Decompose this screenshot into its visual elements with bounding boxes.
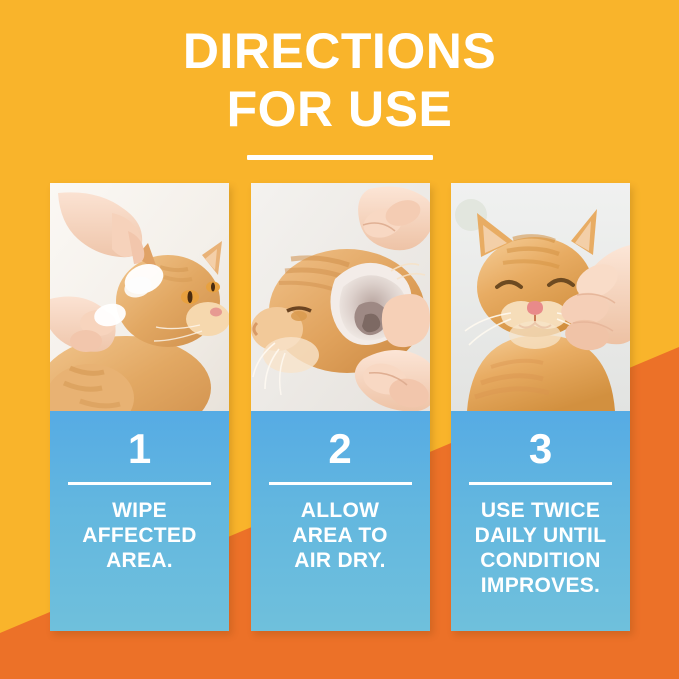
cat-ear-open-illustration: [251, 183, 430, 411]
step-text-3: USE TWICE DAILY UNTIL CONDITION IMPROVES…: [461, 498, 620, 598]
step-card-3: 3 USE TWICE DAILY UNTIL CONDITION IMPROV…: [451, 183, 630, 631]
content-cat-illustration: [451, 183, 630, 411]
cat-ear-wipe-illustration: [50, 183, 229, 411]
step-divider-rule-1: [68, 482, 211, 485]
step-divider-rule-3: [469, 482, 612, 485]
photo-petting-content-cat: [451, 183, 630, 411]
step-panel-1: 1 WIPE AFFECTED AREA.: [50, 411, 229, 631]
photo-holding-open-cat-ear: [251, 183, 430, 411]
page-title: DIRECTIONS FOR USE: [0, 22, 679, 138]
step-text-1: WIPE AFFECTED AREA.: [60, 498, 219, 573]
step-number-3: 3: [461, 427, 620, 471]
step-number-1: 1: [60, 427, 219, 471]
step-number-2: 2: [261, 427, 420, 471]
step-card-1: 1 WIPE AFFECTED AREA.: [50, 183, 229, 631]
step-panel-3: 3 USE TWICE DAILY UNTIL CONDITION IMPROV…: [451, 411, 630, 631]
directions-for-use-infographic: DIRECTIONS FOR USE: [0, 0, 679, 679]
step-card-2: 2 ALLOW AREA TO AIR DRY.: [251, 183, 430, 631]
steps-card-row: 1 WIPE AFFECTED AREA.: [50, 183, 630, 631]
step-divider-rule-2: [269, 482, 412, 485]
step-text-2: ALLOW AREA TO AIR DRY.: [261, 498, 420, 573]
header: DIRECTIONS FOR USE: [0, 22, 679, 160]
title-underline-rule: [247, 155, 433, 160]
photo-wiping-cat-ear-with-cotton-pad: [50, 183, 229, 411]
step-panel-2: 2 ALLOW AREA TO AIR DRY.: [251, 411, 430, 631]
